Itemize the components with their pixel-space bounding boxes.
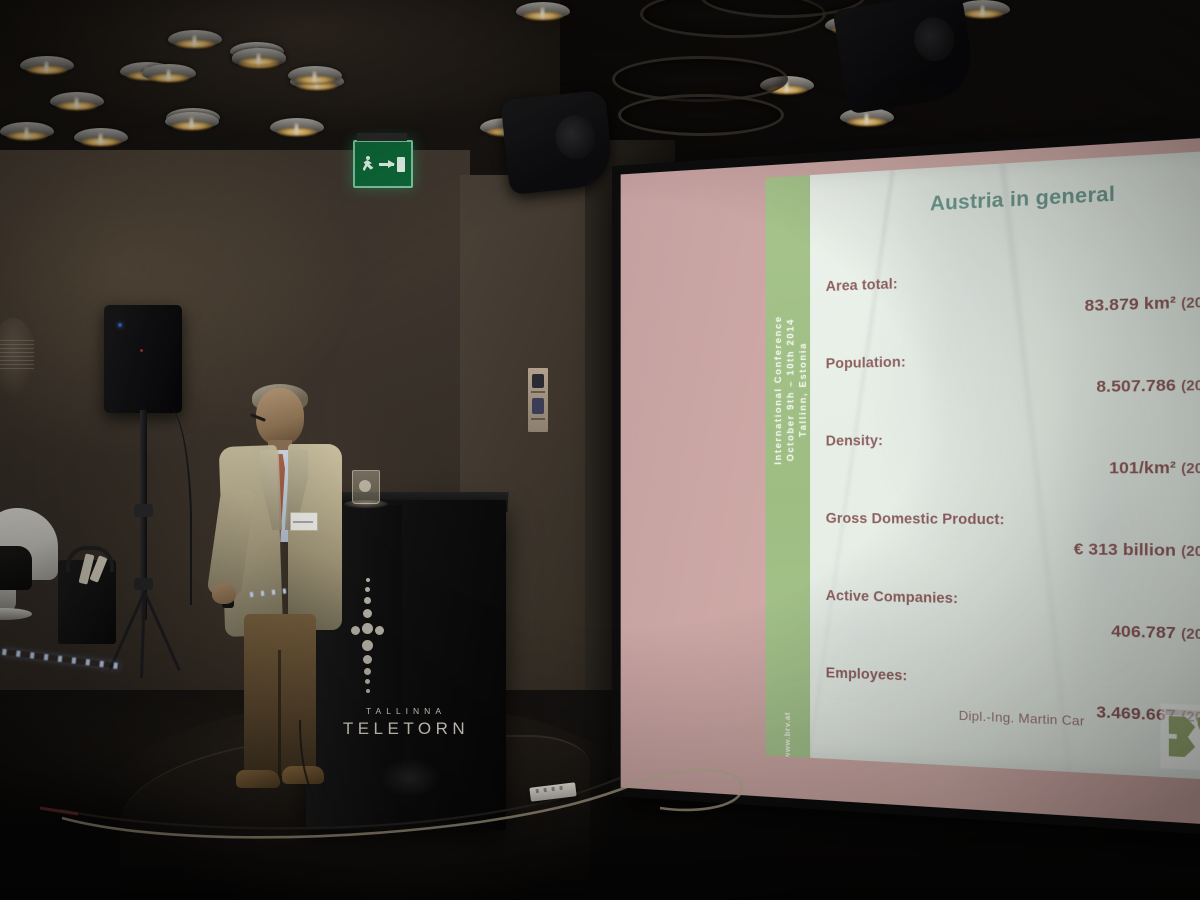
running-person-icon — [362, 156, 376, 172]
power-led-icon — [118, 323, 122, 327]
statistic-value: 101/km² (2014) — [1109, 458, 1200, 477]
ceiling-downlight-icon — [20, 56, 74, 80]
red-cable — [40, 808, 78, 814]
statistic-row: Density: 101/km² (2014) — [826, 429, 1200, 512]
floor-cables — [0, 690, 1200, 900]
statistic-row: Gross Domestic Product: € 313 billion (2… — [826, 510, 1200, 596]
power-cable — [62, 770, 742, 838]
name-badge — [290, 512, 318, 531]
ceiling-downlight-icon — [0, 122, 54, 146]
ceiling-downlight-icon — [74, 128, 128, 152]
ceiling-downlight-icon — [142, 64, 196, 88]
podium-cable — [300, 720, 320, 808]
statistic-label: Density: — [826, 432, 883, 448]
statistic-label: Gross Domestic Product: — [826, 510, 1005, 527]
wall-graphic-text — [0, 340, 34, 370]
sign-pictogram-icon — [532, 398, 544, 414]
statistic-label: Population: — [826, 354, 906, 372]
statistic-value: 406.787 (2012) — [1111, 622, 1200, 644]
ceiling-ring-fixture — [618, 94, 784, 136]
statistic-value: 8.507.786 (2014) — [1096, 375, 1200, 396]
sign-pictogram-icon — [532, 374, 544, 388]
ceiling-downlight-icon — [270, 118, 324, 142]
status-led-icon — [140, 349, 143, 352]
slide-sidebar: International Conference October 9th – 1… — [766, 175, 810, 758]
hand — [212, 584, 236, 604]
statistics-list: Area total: 83.879 km² (2014) Population… — [826, 262, 1200, 762]
emergency-exit-sign — [353, 140, 413, 188]
presentation-room-photo: International Conference October 9th – 1… — [0, 0, 1200, 900]
ceiling-downlight-icon — [168, 30, 222, 54]
statistic-value: 83.879 km² (2014) — [1085, 292, 1200, 315]
pa-speaker — [104, 305, 182, 413]
water-glass — [352, 470, 380, 504]
presentation-slide: International Conference October 9th – 1… — [766, 149, 1200, 782]
ceiling-downlight-icon — [288, 66, 342, 90]
chair-foot — [0, 608, 32, 620]
secondary-cable — [60, 778, 620, 828]
statistic-label: Active Companies: — [826, 587, 958, 606]
conference-info-text: International Conference October 9th – 1… — [772, 265, 809, 515]
equipment-bag — [58, 560, 116, 644]
statistic-label: Area total: — [826, 276, 898, 295]
ceiling-downlight-icon — [165, 112, 219, 136]
statistic-row: Area total: 83.879 km² (2014) — [826, 262, 1200, 355]
statistic-row: Active Companies: 406.787 (2012) — [826, 587, 1200, 679]
ceiling-downlight-icon — [232, 48, 286, 72]
statistic-row: Population: 8.507.786 (2014) — [826, 346, 1200, 433]
ceiling-downlight-icon — [50, 92, 104, 116]
ceiling-downlight-icon — [516, 2, 570, 26]
arrow-right-icon — [379, 163, 394, 166]
door-icon — [397, 157, 405, 172]
exit-sign-mount — [357, 133, 407, 141]
wall-info-sign — [528, 368, 548, 432]
teletorn-dot-logo-icon — [348, 578, 388, 698]
statistic-label: Employees: — [826, 665, 908, 684]
statistic-value: € 313 billion (2013) — [1074, 540, 1200, 561]
coat-on-chair — [0, 546, 32, 590]
